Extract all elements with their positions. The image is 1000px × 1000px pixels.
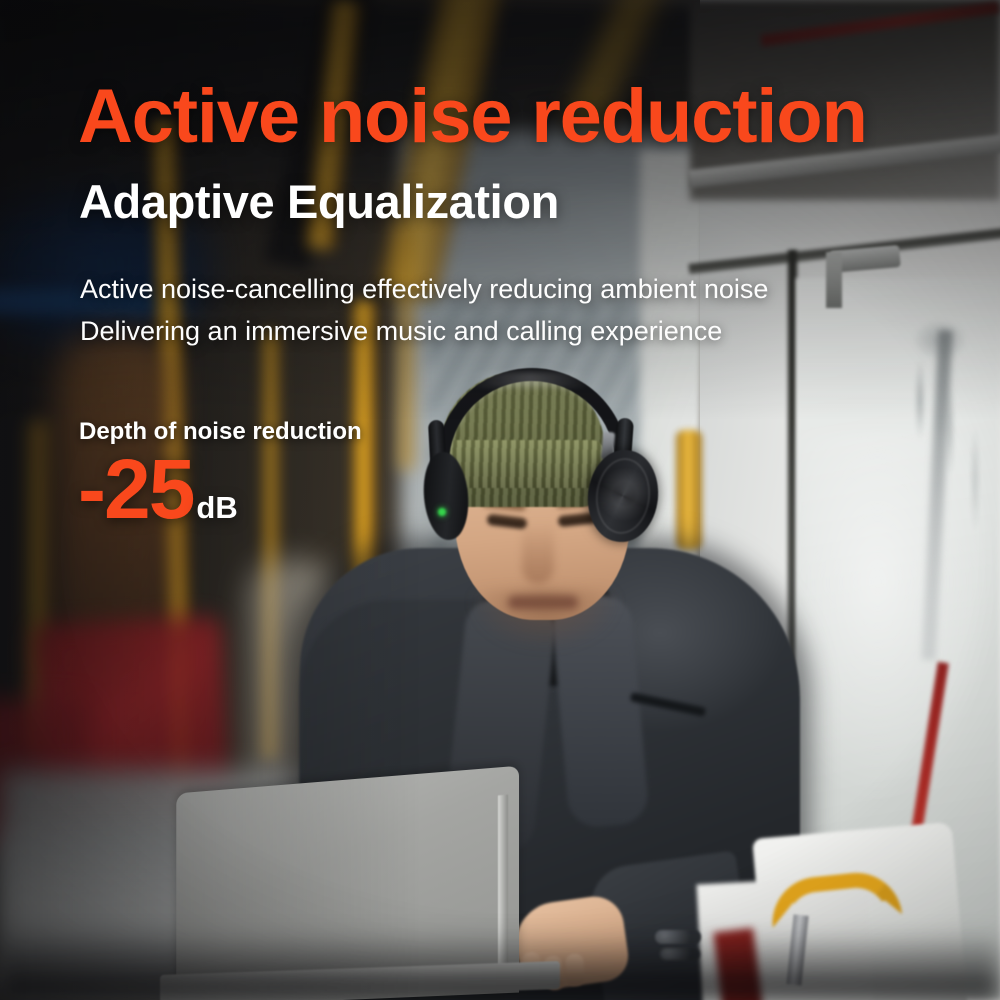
stat-value-group: -25 dB: [78, 447, 238, 531]
stat-number: -25: [78, 447, 193, 531]
description-line-1: Active noise-cancelling effectively redu…: [80, 268, 768, 310]
stat-unit: dB: [196, 492, 237, 523]
page-subtitle: Adaptive Equalization: [79, 178, 559, 225]
description-block: Active noise-cancelling effectively redu…: [80, 268, 768, 352]
text-overlay: Active noise reduction Adaptive Equaliza…: [0, 0, 1000, 1000]
product-feature-banner: Active noise reduction Adaptive Equaliza…: [0, 0, 1000, 1000]
page-title: Active noise reduction: [78, 79, 867, 155]
description-line-2: Delivering an immersive music and callin…: [80, 310, 768, 352]
